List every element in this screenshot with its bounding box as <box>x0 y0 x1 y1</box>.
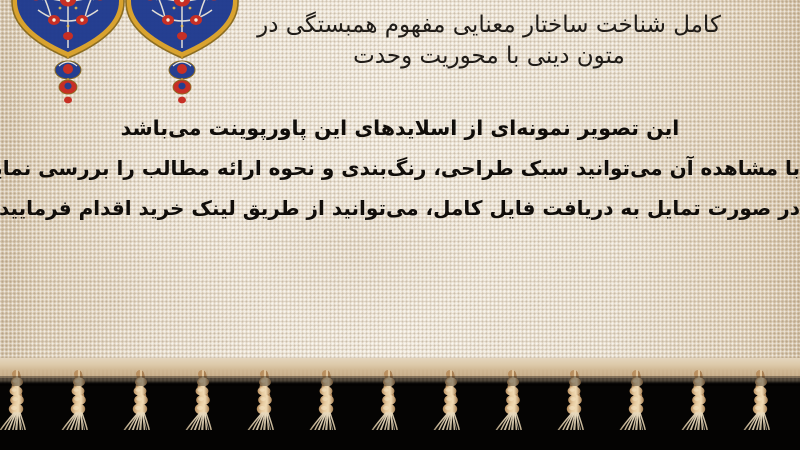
slide-canvas: کامل شناخت ساختار معنایی مفهوم همبستگی د… <box>0 0 800 450</box>
body-line-3: در صورت تمایل به دریافت فایل کامل، می‌تو… <box>0 188 800 228</box>
title-line-1: کامل شناخت ساختار معنایی مفهوم همبستگی د… <box>200 10 778 41</box>
body-text: این تصویر نمونه‌ای از اسلایدهای این پاور… <box>0 108 800 228</box>
bottom-black-band <box>0 430 800 450</box>
body-line-1: این تصویر نمونه‌ای از اسلایدهای این پاور… <box>0 108 800 148</box>
body-line-2: با مشاهده آن می‌توانید سبک طراحی، رنگ‌بن… <box>0 148 800 188</box>
title-line-2: متون دینی با محوریت وحدت <box>200 41 778 72</box>
page-title: کامل شناخت ساختار معنایی مفهوم همبستگی د… <box>0 10 800 72</box>
